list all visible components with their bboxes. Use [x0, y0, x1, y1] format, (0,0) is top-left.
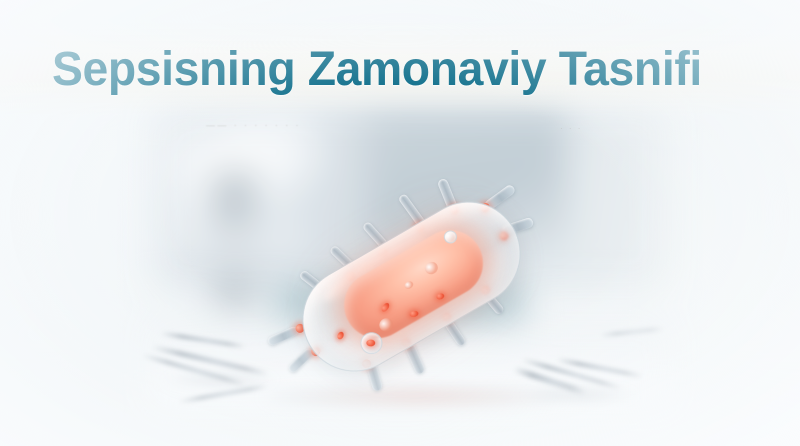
page-title: Sepsisning Zamonaviy Tasnifi: [52, 40, 728, 100]
slide-canvas: Sepsisning Zamonaviy Tasnifi —— · · · · …: [0, 0, 800, 446]
plasmid-dot: [366, 339, 375, 346]
subtitle-faded: —— · · · · · · ·: [206, 120, 546, 130]
bacterium-illustration: [272, 158, 540, 396]
subtitle-trailing-dots: · · ·: [560, 124, 582, 133]
